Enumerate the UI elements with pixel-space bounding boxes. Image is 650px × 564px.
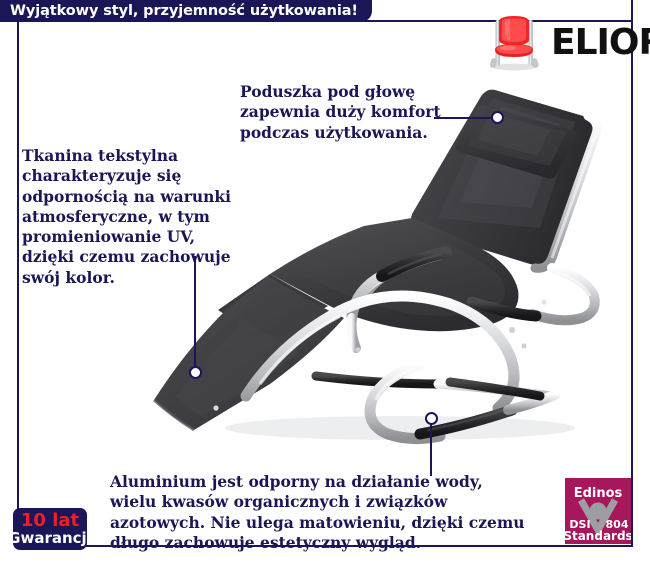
frame-border-right xyxy=(631,0,633,547)
callout-headrest-text: Poduszka pod głowę zapewnia duży komfort… xyxy=(240,82,455,143)
warranty-years: 10 lat xyxy=(21,512,79,530)
certification-title: Edinos xyxy=(574,486,623,501)
frame-border-left xyxy=(17,22,19,547)
callout-marker-fabric xyxy=(189,366,202,379)
warranty-badge: 10 lat Gwarancji xyxy=(13,508,87,550)
callout-leader-fabric xyxy=(194,256,196,372)
red-chair-icon xyxy=(487,14,541,72)
header-banner-text: Wyjątkowy styl, przyjemność użytkowania! xyxy=(10,3,358,19)
callout-aluminium-text: Aluminium jest odporny na działanie wody… xyxy=(110,472,530,553)
brand-name: ELIOR xyxy=(551,25,650,61)
callout-marker-aluminium xyxy=(425,412,438,425)
callout-marker-headrest xyxy=(491,111,504,124)
callout-leader-aluminium xyxy=(430,420,432,476)
brand-logo: ELIOR xyxy=(487,14,650,72)
callout-fabric-text: Tkanina tekstylna charakteryzuje się odp… xyxy=(22,146,232,288)
warranty-label: Gwarancji xyxy=(8,531,92,546)
certification-bottom: Standards xyxy=(565,529,631,543)
header-banner: Wyjątkowy styl, przyjemność użytkowania! xyxy=(0,0,372,22)
callout-leader-headrest xyxy=(434,117,496,119)
certification-badge: Edinos DSI 804 Standards xyxy=(565,478,631,544)
infographic-page: Wyjątkowy styl, przyjemność użytkowania!… xyxy=(0,0,650,564)
